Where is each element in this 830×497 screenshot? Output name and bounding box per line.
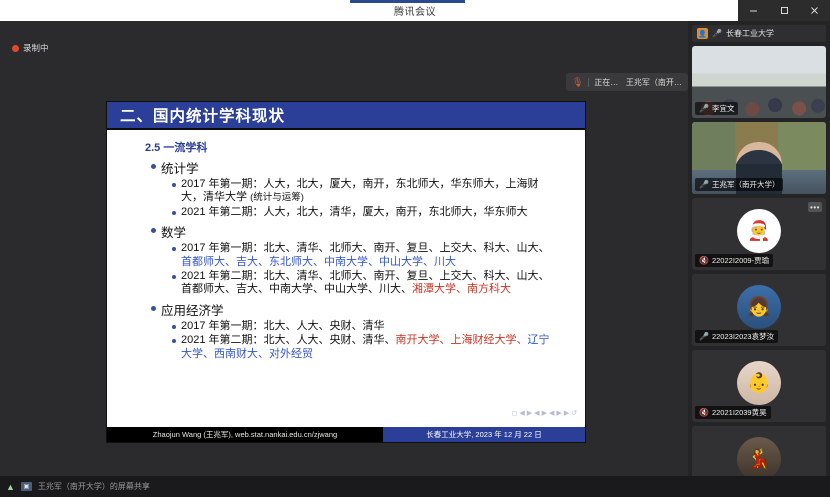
nav-symbol-icon[interactable]: ▶	[527, 409, 532, 417]
speaking-prefix: 正在讲话:	[594, 77, 621, 88]
share-screen-icon: ▲	[6, 482, 15, 492]
nav-symbol-icon[interactable]: ◀	[534, 409, 539, 417]
meeting-stage: 录制中 🎙 正在讲话: 王兆军（南开大学… 二、国内统计学科现状 2.5 一流学…	[0, 21, 688, 476]
slide-footer-right: 长春工业大学, 2023 年 12 月 22 日	[383, 427, 585, 442]
slide-bullet-label: 2017 年第一期：	[181, 178, 264, 190]
slide-group-name: 应用经济学	[161, 300, 224, 319]
video-tile[interactable]: 🎤王兆军（南开大学）	[692, 122, 826, 194]
speaking-mic-icon: 🎙	[572, 77, 583, 88]
slide-bullet-item: 2017 年第一期：人大，北大，厦大，南开，东北师大，华东师大，上海财大，清华大…	[172, 178, 577, 205]
mic-off-icon: 🔇	[699, 256, 709, 265]
participant-rail[interactable]: 👤 🎤 长春工业大学 🎤李宜文🎤王兆军（南开大学）🧑‍🎄•••🔇22022I20…	[688, 21, 830, 476]
nav-symbol-icon[interactable]: ◻	[512, 409, 518, 417]
slide-author: Zhaojun Wang (王兆军), web.stat.nankai.edu.…	[153, 429, 337, 440]
close-icon[interactable]	[799, 0, 830, 21]
beamer-navigation-symbols[interactable]: ◻◀▶◀▶◀▶▶↺	[512, 409, 577, 417]
participant-name: 22023I2023袁梦汝	[712, 331, 774, 342]
video-tile[interactable]: 🎤李宜文	[692, 46, 826, 118]
video-tile[interactable]: 🧑‍🎄•••🔇22022I2009-贾瑜	[692, 198, 826, 270]
video-tile[interactable]: 👶🔇22021I2039黄昊	[692, 350, 826, 422]
slide-bullet-label: 2017 年第一期：	[181, 242, 264, 254]
participant-name: 李宜文	[712, 103, 735, 114]
slide-text-run: (统计与运筹)	[250, 192, 304, 203]
slide-text-run: 湘潭大学、南方科大	[412, 283, 511, 295]
slide-bullet-label: 2017 年第一期：	[181, 320, 264, 332]
slide-group-name: 数学	[161, 222, 186, 241]
shared-slide: 二、国内统计学科现状 2.5 一流学科 统计学2017 年第一期：人大，北大，厦…	[107, 102, 585, 442]
slide-group-heading: 统计学	[151, 158, 577, 177]
slide-bullet-label: 2021 年第二期：	[181, 206, 264, 218]
host-avatar-icon: 👤	[697, 28, 708, 39]
slide-bullet-item: 2021 年第二期：人大，北大，清华，厦大，南开，东北师大，华东师大	[172, 206, 577, 219]
tile-more-options-icon[interactable]: •••	[808, 202, 822, 212]
avatar: 👧	[737, 285, 781, 329]
slide-title: 二、国内统计学科现状	[107, 104, 285, 126]
divider	[588, 78, 589, 87]
avatar: 👶	[737, 361, 781, 405]
window-controls	[738, 0, 830, 21]
slide-body: 2.5 一流学科 统计学2017 年第一期：人大，北大，厦大，南开，东北师大，华…	[107, 130, 585, 419]
titlebar-accent	[350, 0, 465, 3]
recording-label: 录制中	[23, 42, 49, 54]
slide-text-run: 北大、清华、北师大、南开、复旦、上交大、科大、山大、	[264, 242, 550, 254]
nav-symbol-icon[interactable]: ▶	[564, 409, 569, 417]
mic-off-icon: 🔇	[699, 408, 709, 417]
tile-name-badge: 🎤李宜文	[695, 102, 738, 115]
slide-text-run: 首都师大、吉大、东北师大、中南大学、中山大学、川大	[181, 256, 456, 268]
slide-bullet-text: 2021 年第二期：北大、人大、央财、清华、南开大学、上海财经大学、辽宁大学、西…	[181, 334, 553, 361]
slide-bullet-text: 2021 年第二期：人大，北大，清华，厦大，南开，东北师大，华东师大	[181, 206, 553, 219]
bullet-icon	[172, 247, 176, 251]
slide-group-heading: 应用经济学	[151, 300, 577, 319]
bullet-icon	[172, 325, 176, 329]
slide-footer-left: Zhaojun Wang (王兆军), web.stat.nankai.edu.…	[107, 427, 383, 442]
video-tile[interactable]: 💃🎤22022I2004蔡馨白	[692, 426, 826, 476]
participant-name: 王兆军（南开大学）	[712, 179, 780, 190]
participant-name: 22022I2009-贾瑜	[712, 255, 769, 266]
tile-name-badge: 🎤王兆军（南开大学）	[695, 178, 783, 191]
bullet-icon	[151, 164, 156, 169]
slide-group-list: 统计学2017 年第一期：人大，北大，厦大，南开，东北师大，华东师大，上海财大，…	[127, 158, 577, 361]
nav-symbol-icon[interactable]: ◀	[549, 409, 554, 417]
slide-bullet-text: 2021 年第二期：北大、清华、北师大、南开、复旦、上交大、科大、山大、首都师大…	[181, 270, 553, 297]
bullet-icon	[151, 228, 156, 233]
mic-muted-icon: 🎤	[699, 180, 709, 189]
slide-bullet-item: 2021 年第二期：北大、清华、北师大、南开、复旦、上交大、科大、山大、首都师大…	[172, 270, 577, 297]
slide-section-heading: 2.5 一流学科	[145, 139, 577, 155]
slide-bullet-label: 2021 年第二期：	[181, 334, 264, 346]
recording-indicator: 录制中	[12, 42, 49, 54]
slide-text-run: 北大、人大、央财、清华	[264, 320, 385, 332]
mic-muted-icon: 🎤	[699, 104, 709, 113]
slide-group-heading: 数学	[151, 222, 577, 241]
slide-bullet-text: 2017 年第一期：北大、清华、北师大、南开、复旦、上交大、科大、山大、首都师大…	[181, 242, 553, 269]
slide-bullet-text: 2017 年第一期：北大、人大、央财、清华	[181, 320, 553, 333]
slide-footer: Zhaojun Wang (王兆军), web.stat.nankai.edu.…	[107, 427, 585, 442]
tile-name-badge: 🔇22022I2009-贾瑜	[695, 254, 773, 267]
bullet-icon	[172, 183, 176, 187]
host-name: 长春工业大学	[726, 28, 774, 39]
slide-text-run: 南开大学、上海财经大学、	[396, 334, 528, 346]
slide-text-run: 人大，北大，清华，厦大，南开，东北师大，华东师大	[264, 206, 528, 218]
participant-name: 22021I2039黄昊	[712, 407, 767, 418]
speaking-name: 王兆军（南开大学…	[626, 77, 682, 88]
slide-bullet-item: 2017 年第一期：北大、清华、北师大、南开、复旦、上交大、科大、山大、首都师大…	[172, 242, 577, 269]
bullet-icon	[172, 211, 176, 215]
avatar: 💃	[737, 437, 781, 476]
slide-bullet-item: 2017 年第一期：北大、人大、央财、清华	[172, 320, 577, 333]
minimize-icon[interactable]	[738, 0, 769, 21]
meeting-window: 腾讯会议 录制中 🎙 正在讲话: 王兆军（南开大学… 二、国内统计学科现状	[0, 0, 830, 497]
nav-symbol-icon[interactable]: ↺	[571, 409, 577, 417]
app-icon[interactable]: ▣	[21, 482, 32, 491]
taskbar-share-label: 王兆军（南开大学）的屏幕共享	[38, 481, 150, 492]
video-tile[interactable]: 👧🎤22023I2023袁梦汝	[692, 274, 826, 346]
nav-symbol-icon[interactable]: ◀	[519, 409, 524, 417]
host-row[interactable]: 👤 🎤 长春工业大学	[692, 25, 826, 42]
avatar: 🧑‍🎄	[737, 209, 781, 253]
record-dot-icon	[12, 45, 19, 52]
bullet-icon	[172, 339, 176, 343]
slide-bullet-text: 2017 年第一期：人大，北大，厦大，南开，东北师大，华东师大，上海财大，清华大…	[181, 178, 553, 205]
slide-bullet-item: 2021 年第二期：北大、人大、央财、清华、南开大学、上海财经大学、辽宁大学、西…	[172, 334, 577, 361]
tile-name-badge: 🎤22023I2023袁梦汝	[695, 330, 778, 343]
slide-venue-date: 长春工业大学, 2023 年 12 月 22 日	[426, 429, 541, 440]
bullet-icon	[172, 275, 176, 279]
slide-bullet-label: 2021 年第二期：	[181, 270, 264, 282]
host-mic-icon: 🎤	[712, 29, 722, 38]
window-titlebar: 腾讯会议	[0, 0, 830, 21]
tile-name-badge: 🔇22021I2039黄昊	[695, 406, 771, 419]
nav-symbol-icon[interactable]: ▶	[556, 409, 561, 417]
maximize-icon[interactable]	[769, 0, 800, 21]
window-title: 腾讯会议	[394, 3, 436, 18]
taskbar[interactable]: ▲ ▣ 王兆军（南开大学）的屏幕共享	[0, 476, 830, 497]
slide-group-name: 统计学	[161, 158, 199, 177]
active-speaker-badge: 🎙 正在讲话: 王兆军（南开大学…	[566, 73, 688, 91]
nav-symbol-icon[interactable]: ▶	[542, 409, 547, 417]
slide-text-run: 北大、人大、央财、清华、	[264, 334, 396, 346]
video-tile-list: 🎤李宜文🎤王兆军（南开大学）🧑‍🎄•••🔇22022I2009-贾瑜👧🎤2202…	[692, 46, 826, 476]
slide-title-bar: 二、国内统计学科现状	[107, 102, 585, 130]
bullet-icon	[151, 306, 156, 311]
mic-muted-icon: 🎤	[699, 332, 709, 341]
